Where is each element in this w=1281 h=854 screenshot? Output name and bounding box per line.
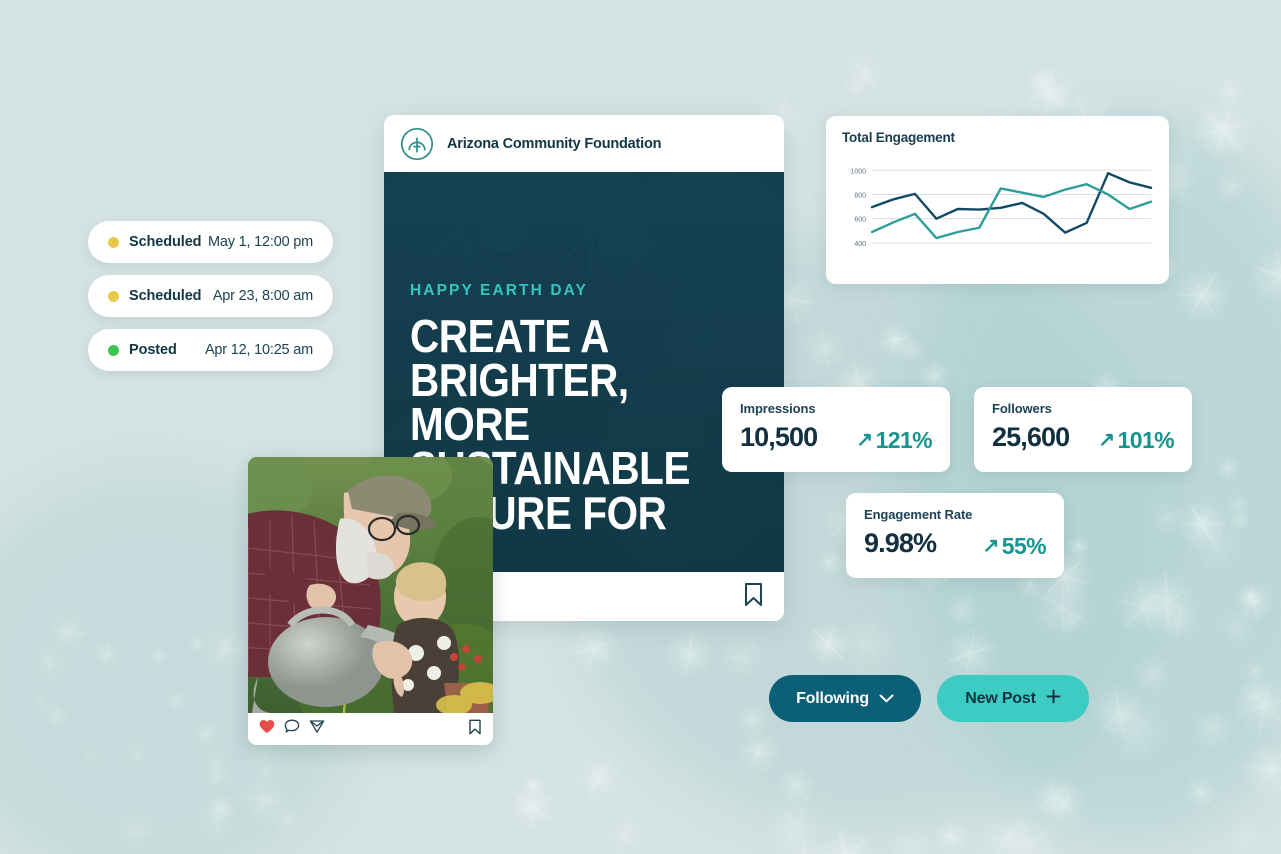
chevron-down-icon — [879, 690, 894, 708]
engagement-line-chart: 4006008001000 — [842, 157, 1153, 269]
metric-label: Impressions — [740, 401, 932, 416]
garden-photo-illustration — [248, 457, 493, 713]
hero-kicker: HAPPY EARTH DAY — [410, 282, 772, 300]
metric-card-followers: Followers 25,600 ↗ 101% — [974, 387, 1192, 472]
metric-delta-value: 121% — [876, 427, 932, 454]
status-label: Scheduled — [129, 288, 201, 304]
total-engagement-chart-card: Total Engagement 4006008001000 — [826, 116, 1169, 284]
schedule-time: Apr 12, 10:25 am — [205, 342, 313, 358]
status-dot — [108, 291, 119, 302]
bookmark-icon[interactable] — [743, 582, 764, 612]
metric-delta: ↗ 55% — [983, 533, 1046, 560]
arrow-up-right-icon: ↗ — [1098, 430, 1114, 450]
heart-icon[interactable] — [259, 719, 275, 739]
chart-y-tick-label: 600 — [854, 217, 866, 224]
schedule-pill[interactable]: Scheduled Apr 23, 8:00 am — [88, 275, 333, 317]
metric-value: 9.98% — [864, 528, 936, 559]
arrow-up-right-icon: ↗ — [856, 430, 872, 450]
metric-delta-value: 101% — [1118, 427, 1174, 454]
share-icon[interactable] — [309, 719, 325, 739]
chart-y-tick-label: 800 — [854, 192, 866, 199]
garden-photo — [248, 457, 493, 713]
chart-title: Total Engagement — [842, 130, 1153, 145]
metric-card-engagement-rate: Engagement Rate 9.98% ↗ 55% — [846, 493, 1064, 578]
following-button[interactable]: Following — [769, 675, 921, 722]
metric-label: Engagement Rate — [864, 507, 1046, 522]
chart-series-line — [872, 173, 1151, 232]
photo-post-card — [248, 457, 493, 745]
metric-card-impressions: Impressions 10,500 ↗ 121% — [722, 387, 950, 472]
metric-label: Followers — [992, 401, 1174, 416]
status-label: Posted — [129, 342, 177, 358]
schedule-pill[interactable]: Posted Apr 12, 10:25 am — [88, 329, 333, 371]
app-canvas: Scheduled May 1, 12:00 pm Scheduled Apr … — [0, 0, 1281, 854]
metric-delta-value: 55% — [1002, 533, 1046, 560]
status-dot — [108, 237, 119, 248]
metric-value: 25,600 — [992, 422, 1069, 453]
schedule-time: Apr 23, 8:00 am — [213, 288, 313, 304]
chart-y-tick-label: 400 — [854, 241, 866, 248]
chart-svg: 4006008001000 — [842, 157, 1153, 269]
arizona-community-foundation-logo-icon — [400, 127, 434, 161]
schedule-pill[interactable]: Scheduled May 1, 12:00 pm — [88, 221, 333, 263]
new-post-button[interactable]: New Post — [937, 675, 1089, 722]
bookmark-icon[interactable] — [468, 719, 482, 740]
metric-delta: ↗ 121% — [856, 427, 932, 454]
brand-name: Arizona Community Foundation — [447, 136, 661, 152]
following-label: Following — [796, 690, 869, 708]
chart-y-tick-label: 1000 — [850, 168, 866, 175]
schedule-time: May 1, 12:00 pm — [208, 234, 313, 250]
chart-series-line — [872, 184, 1151, 238]
status-dot — [108, 345, 119, 356]
metric-value: 10,500 — [740, 422, 817, 453]
post-header: Arizona Community Foundation — [384, 115, 784, 172]
status-label: Scheduled — [129, 234, 201, 250]
new-post-label: New Post — [965, 690, 1035, 708]
photo-post-actions — [248, 713, 493, 745]
comment-icon[interactable] — [284, 719, 300, 739]
plus-icon — [1046, 689, 1061, 709]
metric-delta: ↗ 101% — [1098, 427, 1174, 454]
arrow-up-right-icon: ↗ — [983, 536, 999, 556]
